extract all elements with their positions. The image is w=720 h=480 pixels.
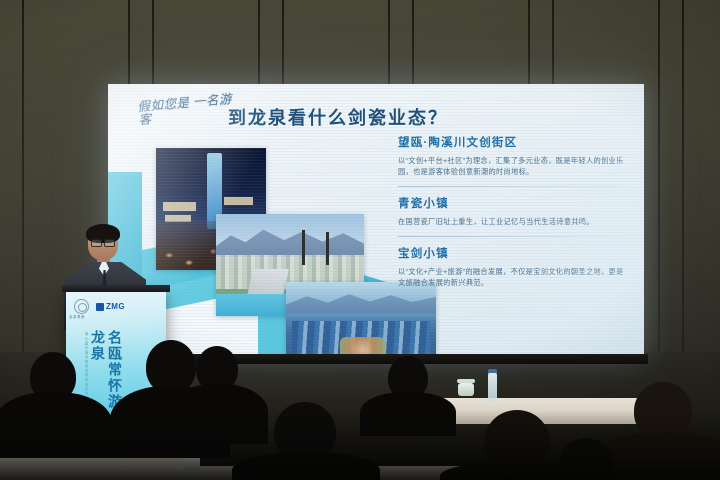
projection-screen: 假如您是 一名游客 到龙泉看什么剑瓷业态？ xyxy=(108,84,644,356)
section-heading: 青瓷小镇 xyxy=(398,195,626,211)
podium-subtext: 第七届中国龙泉青瓷青瓷宝剑节 xyxy=(78,332,90,396)
section-heading: 望瓯·陶溪川文创街区 xyxy=(398,134,626,150)
photo-chimney xyxy=(302,230,305,265)
section-heading: 宝剑小镇 xyxy=(398,245,626,261)
tea-cup-lid xyxy=(457,379,475,383)
slide-handwritten-title: 假如您是 一名游客 xyxy=(137,93,237,127)
photo-detail xyxy=(224,197,253,206)
water-bottle xyxy=(488,372,497,402)
slide-section: 宝剑小镇 以“文化+产业+旅游”的融合发展，不仅是宝剑文化的朝圣之地，更是文旅融… xyxy=(398,245,626,288)
scene-stage: 假如您是 一名游客 到龙泉看什么剑瓷业态？ xyxy=(0,0,720,480)
zmg-logo-mark-icon xyxy=(96,303,104,311)
ceramic-seal-icon xyxy=(74,299,89,314)
bottle-cap xyxy=(488,369,497,373)
glasses-icon xyxy=(91,238,115,245)
zmg-logo: ZMG xyxy=(96,302,125,311)
podium-secondary-mark: 龙泉青瓷 xyxy=(69,314,85,319)
slide-photo-ceramic-town xyxy=(286,282,436,356)
section-body: 以“文创+平台+社区”为理念，汇集了多元业态，既是年轻人的创业乐园，也是游客体验… xyxy=(398,155,626,177)
photo-detail xyxy=(163,202,196,212)
photo-chimney xyxy=(326,232,329,265)
zmg-logo-text: ZMG xyxy=(106,302,125,311)
section-body: 在国营瓷厂旧址上重生，让工业记忆与当代生活诗意共鸣。 xyxy=(398,216,626,227)
section-body: 以“文化+产业+旅游”的融合发展，不仅是宝剑文化的朝圣之地，更是文旅融合发展的新… xyxy=(398,266,626,288)
podium-logo-row: ZMG xyxy=(74,299,125,314)
section-divider xyxy=(398,186,626,187)
tea-cup xyxy=(458,383,474,396)
slide-section: 望瓯·陶溪川文创街区 以“文创+平台+社区”为理念，汇集了多元业态，既是年轻人的… xyxy=(398,134,626,177)
section-divider xyxy=(398,236,626,237)
slide-canvas: 假如您是 一名游客 到龙泉看什么剑瓷业态？ xyxy=(108,84,644,356)
slide-text-column: 望瓯·陶溪川文创街区 以“文创+平台+社区”为理念，汇集了多元业态，既是年轻人的… xyxy=(398,134,626,288)
slide-main-title: 到龙泉看什么剑瓷业态？ xyxy=(228,104,448,130)
slide-section: 青瓷小镇 在国营瓷厂旧址上重生，让工业记忆与当代生活诗意共鸣。 xyxy=(398,195,626,227)
foreground-shadow xyxy=(0,410,720,480)
podium-top-surface xyxy=(62,285,170,292)
